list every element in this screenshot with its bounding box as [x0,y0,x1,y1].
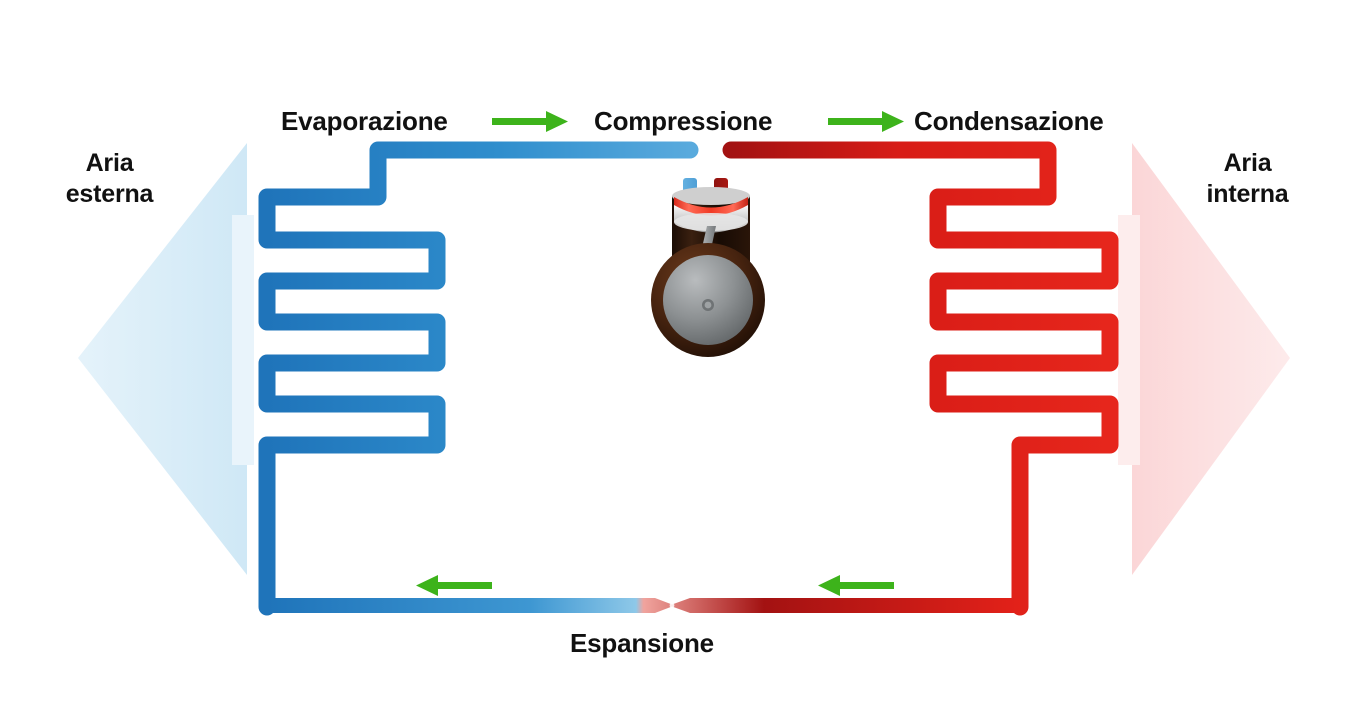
stage-label-compressione: Compressione [594,106,772,136]
compressor [651,178,765,357]
condenser-coil [731,150,1110,607]
expansion-line [267,598,1020,613]
stage-label-evaporazione: Evaporazione [281,106,448,136]
flow-arrow-evaporazione-compressione [492,111,568,132]
flow-arrow-compressione-condensazione [828,111,904,132]
flow-arrow-return-right [818,575,894,596]
flow-arrow-return-left [416,575,492,596]
evaporator-coil [267,150,690,607]
air-label-aria-interna: Aria interna [1180,148,1315,210]
stage-label-condensazione: Condensazione [914,106,1104,136]
stage-label-espansione: Espansione [570,628,714,658]
air-label-aria-esterna: Aria esterna [42,148,177,210]
expansion-valve [670,603,675,608]
diagram-canvas: Evaporazione Compressione Condensazione … [0,0,1366,723]
